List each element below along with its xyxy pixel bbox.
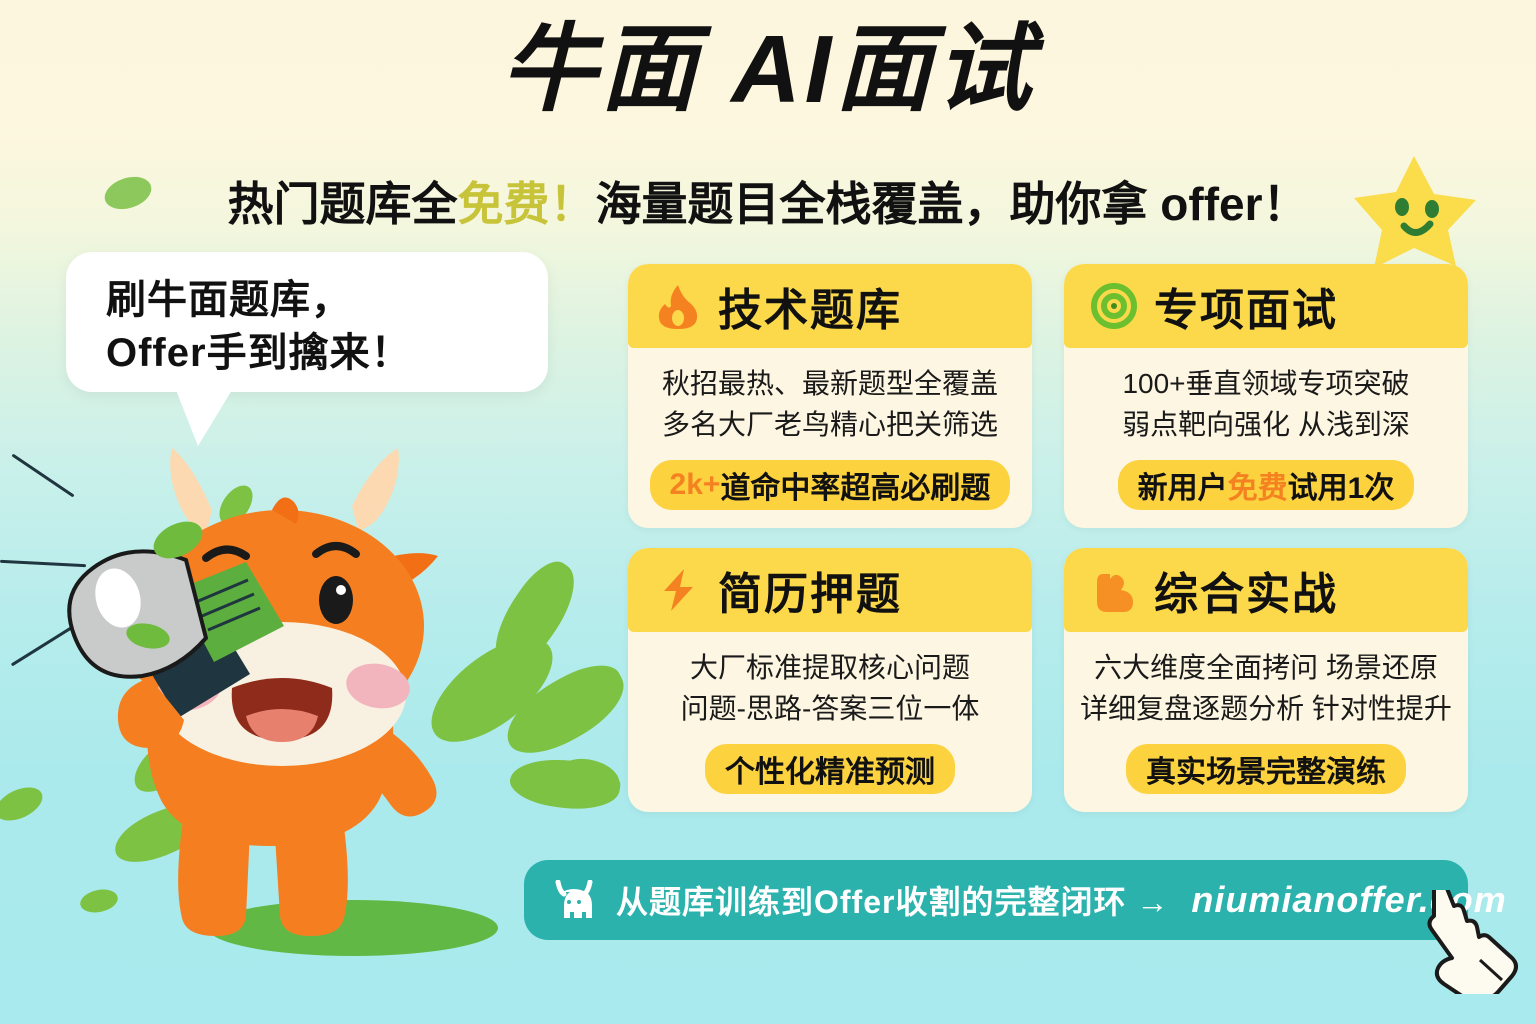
pointing-hand-cursor-icon	[1414, 890, 1518, 994]
card-line: 问题-思路-答案三位一体	[642, 689, 1018, 730]
promo-banner: 牛面 AI面试 热门题库全免费！海量题目全栈覆盖，助你拿 offer！ 刷牛面题…	[0, 0, 1536, 1024]
badge-text: 试用1次	[1288, 463, 1395, 507]
card-header: 技术题库	[628, 264, 1032, 348]
card-line: 100+垂直领域专项突破	[1078, 364, 1454, 405]
card-badge[interactable]: 个性化精准预测	[705, 744, 955, 794]
speech-bubble-line-1: 刷牛面题库，	[106, 274, 548, 327]
card-line: 多名大厂老鸟精心把关筛选	[642, 405, 1018, 446]
cta-text: 从题库训练到Offer收割的完整闭环 →	[616, 877, 1169, 923]
card-body: 六大维度全面拷问 场景还原 详细复盘逐题分析 针对性提升 真实场景完整演练	[1064, 632, 1468, 812]
card-header: 综合实战	[1064, 548, 1468, 632]
card-body: 秋招最热、最新题型全覆盖 多名大厂老鸟精心把关筛选 2k+道命中率超高必刷题	[628, 348, 1032, 528]
badge-prefix: 新用户	[1138, 463, 1228, 507]
card-line: 大厂标准提取核心问题	[642, 648, 1018, 689]
speech-bubble-tail	[176, 390, 232, 446]
card-body: 100+垂直领域专项突破 弱点靶向强化 从浅到深 新用户免费试用1次	[1064, 348, 1468, 528]
card-title: 技术题库	[718, 274, 902, 338]
badge-text: 真实场景完整演练	[1146, 747, 1386, 791]
feature-card-resume-prediction[interactable]: 简历押题 大厂标准提取核心问题 问题-思路-答案三位一体 个性化精准预测	[628, 548, 1032, 812]
feature-card-special-interview[interactable]: 专项面试 100+垂直领域专项突破 弱点靶向强化 从浅到深 新用户免费试用1次	[1064, 264, 1468, 528]
card-badge[interactable]: 2k+道命中率超高必刷题	[650, 460, 1011, 510]
lightning-bolt-icon	[654, 566, 702, 614]
subtitle-pre: 热门题库全	[228, 178, 458, 230]
page-title: 牛面 AI面试	[0, 10, 1536, 130]
speech-bubble: 刷牛面题库， Offer手到擒来！	[66, 252, 548, 392]
speech-bubble-text: 刷牛面题库， Offer手到擒来！	[66, 252, 548, 380]
card-title: 专项面试	[1154, 274, 1338, 338]
subtitle: 热门题库全免费！海量题目全栈覆盖，助你拿 offer！	[0, 168, 1536, 234]
card-line: 弱点靶向强化 从浅到深	[1078, 405, 1454, 446]
card-line: 六大维度全面拷问 场景还原	[1078, 648, 1454, 689]
speech-bubble-line-2: Offer手到擒来！	[106, 327, 548, 380]
card-header: 简历押题	[628, 548, 1032, 632]
feature-card-tech-bank[interactable]: 技术题库 秋招最热、最新题型全覆盖 多名大厂老鸟精心把关筛选 2k+道命中率超高…	[628, 264, 1032, 528]
card-line: 秋招最热、最新题型全覆盖	[642, 364, 1018, 405]
badge-accent: 2k+	[670, 468, 721, 502]
badge-accent: 免费	[1228, 463, 1288, 507]
card-body: 大厂标准提取核心问题 问题-思路-答案三位一体 个性化精准预测	[628, 632, 1032, 812]
flame-icon	[654, 282, 702, 330]
orange-cow-mascot	[0, 440, 560, 960]
card-title: 综合实战	[1154, 558, 1338, 622]
card-badge[interactable]: 新用户免费试用1次	[1118, 460, 1415, 510]
badge-text: 道命中率超高必刷题	[720, 463, 990, 507]
feature-card-comprehensive-practice[interactable]: 综合实战 六大维度全面拷问 场景还原 详细复盘逐题分析 针对性提升 真实场景完整…	[1064, 548, 1468, 812]
cow-icon	[552, 880, 596, 920]
flexed-biceps-icon	[1090, 566, 1138, 614]
subtitle-highlight: 免费！	[458, 178, 596, 230]
card-line: 详细复盘逐题分析 针对性提升	[1078, 689, 1454, 730]
target-icon	[1090, 282, 1138, 330]
card-header: 专项面试	[1064, 264, 1468, 348]
card-title: 简历押题	[718, 558, 902, 622]
smiling-star-icon	[1352, 152, 1480, 270]
subtitle-post: 海量题目全栈覆盖，助你拿 offer！	[596, 178, 1309, 230]
card-badge[interactable]: 真实场景完整演练	[1126, 744, 1406, 794]
badge-text: 个性化精准预测	[725, 747, 935, 791]
cta-bar[interactable]: 从题库训练到Offer收割的完整闭环 → niumianoffer.com	[524, 860, 1468, 940]
